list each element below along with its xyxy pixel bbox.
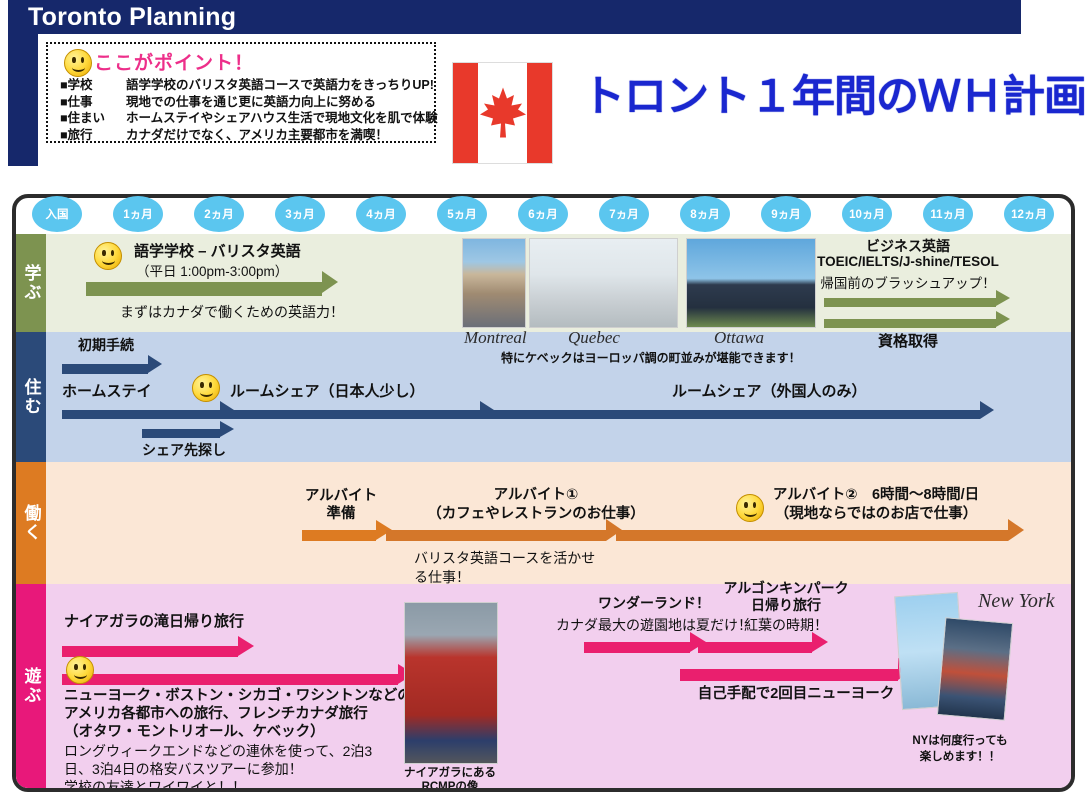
montreal-caption: Montreal <box>464 328 527 348</box>
row-live: 住む Montreal Quebec Ottawa 特にケベックはヨーロッパ調の… <box>16 332 1071 462</box>
month-bubble-1[interactable]: 1ヵ月 <box>113 196 163 232</box>
smiley-face-icon <box>64 49 92 77</box>
smiley-face-icon <box>94 242 122 270</box>
learn-note: まずはカナダで働くための英語力！ <box>120 302 344 322</box>
live-share-search-label: シェア先探し <box>142 440 226 460</box>
month-bubble-11[interactable]: 11ヵ月 <box>923 196 973 232</box>
list-item: ■旅行 カナダだけでなく、アメリカ主要都市を満喫！ <box>60 127 432 144</box>
list-item: ■住まい ホームステイやシェアハウス生活で現地文化を肌で体験 <box>60 110 432 127</box>
row-body-learn: 語学学校 – バリスタ英語 （平日 1:00pm-3:00pm） まずはカナダで… <box>46 234 1071 332</box>
row-body-live: Montreal Quebec Ottawa 特にケベックはヨーロッパ調の町並み… <box>46 332 1071 462</box>
newyork-caption: New York <box>978 590 1055 613</box>
row-label-live: 住む <box>16 332 46 462</box>
play-usa-note3: 学校の友達とワイワイと！！ <box>64 777 246 788</box>
learn-right-title: ビジネス英語 <box>866 236 950 256</box>
work-job2-line1: アルバイト② 6時間～8時間/日 <box>773 483 979 504</box>
point-box-heading: ここがポイント！ <box>94 48 254 75</box>
learn-right-line2: TOEIC/IELTS/J-shine/TESOL <box>817 254 999 269</box>
point-category: ■学校 <box>60 77 126 94</box>
main-title: トロント１年間のＷＨ計画 <box>582 62 1086 124</box>
learn-photo-note: 特にケベックはヨーロッパ調の町並みが堪能できます！ <box>501 349 801 366</box>
play-wonderland-title: ワンダーランド！ <box>598 593 710 613</box>
work-job1-line1: アルバイト① <box>494 483 579 504</box>
play-usa-note2: 日、3泊4日の格安バスツアーに参加！ <box>64 759 303 779</box>
list-item: ■学校 語学学校のバリスタ英語コースで英語力をきっちりUP! <box>60 77 432 94</box>
point-category: ■住まい <box>60 110 126 127</box>
rcmp-statue-photo <box>404 602 498 764</box>
smiley-face-icon <box>736 494 764 522</box>
row-label-play: 遊ぶ <box>16 584 46 788</box>
play-niagara-label: ナイアガラの滝日帰り旅行 <box>64 610 244 631</box>
row-learn: 学ぶ 語学学校 – バリスタ英語 （平日 1:00pm-3:00pm） まずはカ… <box>16 234 1071 332</box>
point-category: ■旅行 <box>60 127 126 144</box>
smiley-face-icon <box>192 374 220 402</box>
month-bubble-10[interactable]: 10ヵ月 <box>842 196 892 232</box>
play-wonderland-note: カナダ最大の遊園地は夏だけ！ <box>556 615 752 635</box>
maple-leaf-icon <box>478 85 528 141</box>
point-box: ここがポイント！ ■学校 語学学校のバリスタ英語コースで英語力をきっちりUP! … <box>46 42 436 143</box>
month-bubble-0[interactable]: 入国 <box>32 196 82 232</box>
month-bubble-6[interactable]: 6ヵ月 <box>518 196 568 232</box>
montreal-photo <box>462 238 526 328</box>
quebec-caption: Quebec <box>568 328 620 348</box>
work-job2-line2: （現地ならではのお店で仕事） <box>775 502 978 523</box>
rcmp-caption-line2: RCMPの像 <box>422 778 479 788</box>
month-bubble-9[interactable]: 9ヵ月 <box>761 196 811 232</box>
month-bubble-3[interactable]: 3ヵ月 <box>275 196 325 232</box>
point-category: ■仕事 <box>60 94 126 111</box>
row-label-work: 働く <box>16 462 46 584</box>
live-homestay-label: ホームステイ <box>62 380 152 401</box>
live-roomshare-jp-label: ルームシェア（日本人少し） <box>230 380 425 401</box>
point-desc: ホームステイやシェアハウス生活で現地文化を肌で体験 <box>126 110 438 127</box>
month-timeline-header: 入国 1ヵ月 2ヵ月 3ヵ月 4ヵ月 5ヵ月 6ヵ月 7ヵ月 8ヵ月 9ヵ月 1… <box>12 196 1075 236</box>
row-body-work: アルバイト 準備 アルバイト① （カフェやレストランのお仕事） アルバイト② 6… <box>46 462 1071 584</box>
row-play: 遊ぶ ナイアガラの滝日帰り旅行 ニューヨーク・ボストン・シカゴ・ワシントンなどの… <box>16 584 1071 788</box>
ny-note-line1: NYは何度行っても <box>912 732 1007 748</box>
work-prep-line2: 準備 <box>327 502 356 523</box>
play-usa-note1: ロングウィークエンドなどの連休を使って、2泊3 <box>64 741 372 761</box>
ottawa-photo <box>686 238 816 328</box>
point-desc: 現地での仕事を通じ更に英語力向上に努める <box>126 94 376 111</box>
work-job1-note-line1: バリスタ英語コースを活かせ <box>414 548 595 568</box>
timeline-grid: 学ぶ 語学学校 – バリスタ英語 （平日 1:00pm-3:00pm） まずはカ… <box>16 234 1071 788</box>
times-square-photo <box>937 617 1013 721</box>
month-bubble-4[interactable]: 4ヵ月 <box>356 196 406 232</box>
month-bubble-5[interactable]: 5ヵ月 <box>437 196 487 232</box>
play-algonquin-line2: 日帰り旅行 <box>751 595 821 615</box>
month-bubble-7[interactable]: 7ヵ月 <box>599 196 649 232</box>
list-item: ■仕事 現地での仕事を通じ更に英語力向上に努める <box>60 94 432 111</box>
month-bubble-12[interactable]: 12ヵ月 <box>1004 196 1054 232</box>
row-body-play: ナイアガラの滝日帰り旅行 ニューヨーク・ボストン・シカゴ・ワシントンなどの アメ… <box>46 584 1071 788</box>
page-title: Toronto Planning <box>28 3 236 32</box>
month-bubble-2[interactable]: 2ヵ月 <box>194 196 244 232</box>
live-proc-label: 初期手続 <box>78 335 134 355</box>
smiley-face-icon <box>66 656 94 684</box>
learn-subtitle: （平日 1:00pm-3:00pm） <box>136 260 288 280</box>
month-bubble-8[interactable]: 8ヵ月 <box>680 196 730 232</box>
ny-note-line2: 楽しめます！！ <box>920 748 1001 764</box>
play-usa-line3: （オタワ・モントリオール、ケベック） <box>64 720 325 741</box>
learn-right-footer: 資格取得 <box>878 330 938 351</box>
row-work: 働く アルバイト 準備 アルバイト① （カフェやレストランのお仕事） アルバイト… <box>16 462 1071 584</box>
quebec-photo <box>529 238 678 328</box>
row-label-learn: 学ぶ <box>16 234 46 332</box>
learn-right-line3: 帰国前のブラッシュアップ！ <box>820 272 995 292</box>
play-ny2-label: 自己手配で2回目ニューヨーク <box>698 682 895 703</box>
ottawa-caption: Ottawa <box>714 328 764 348</box>
canada-flag-icon <box>452 62 553 164</box>
point-desc: 語学学校のバリスタ英語コースで英語力をきっちりUP! <box>126 77 434 94</box>
learn-title: 語学学校 – バリスタ英語 <box>134 240 301 261</box>
live-roomshare-fr-label: ルームシェア（外国人のみ） <box>672 380 867 401</box>
point-desc: カナダだけでなく、アメリカ主要都市を満喫！ <box>126 127 388 144</box>
point-box-list: ■学校 語学学校のバリスタ英語コースで英語力をきっちりUP! ■仕事 現地での仕… <box>60 77 432 143</box>
